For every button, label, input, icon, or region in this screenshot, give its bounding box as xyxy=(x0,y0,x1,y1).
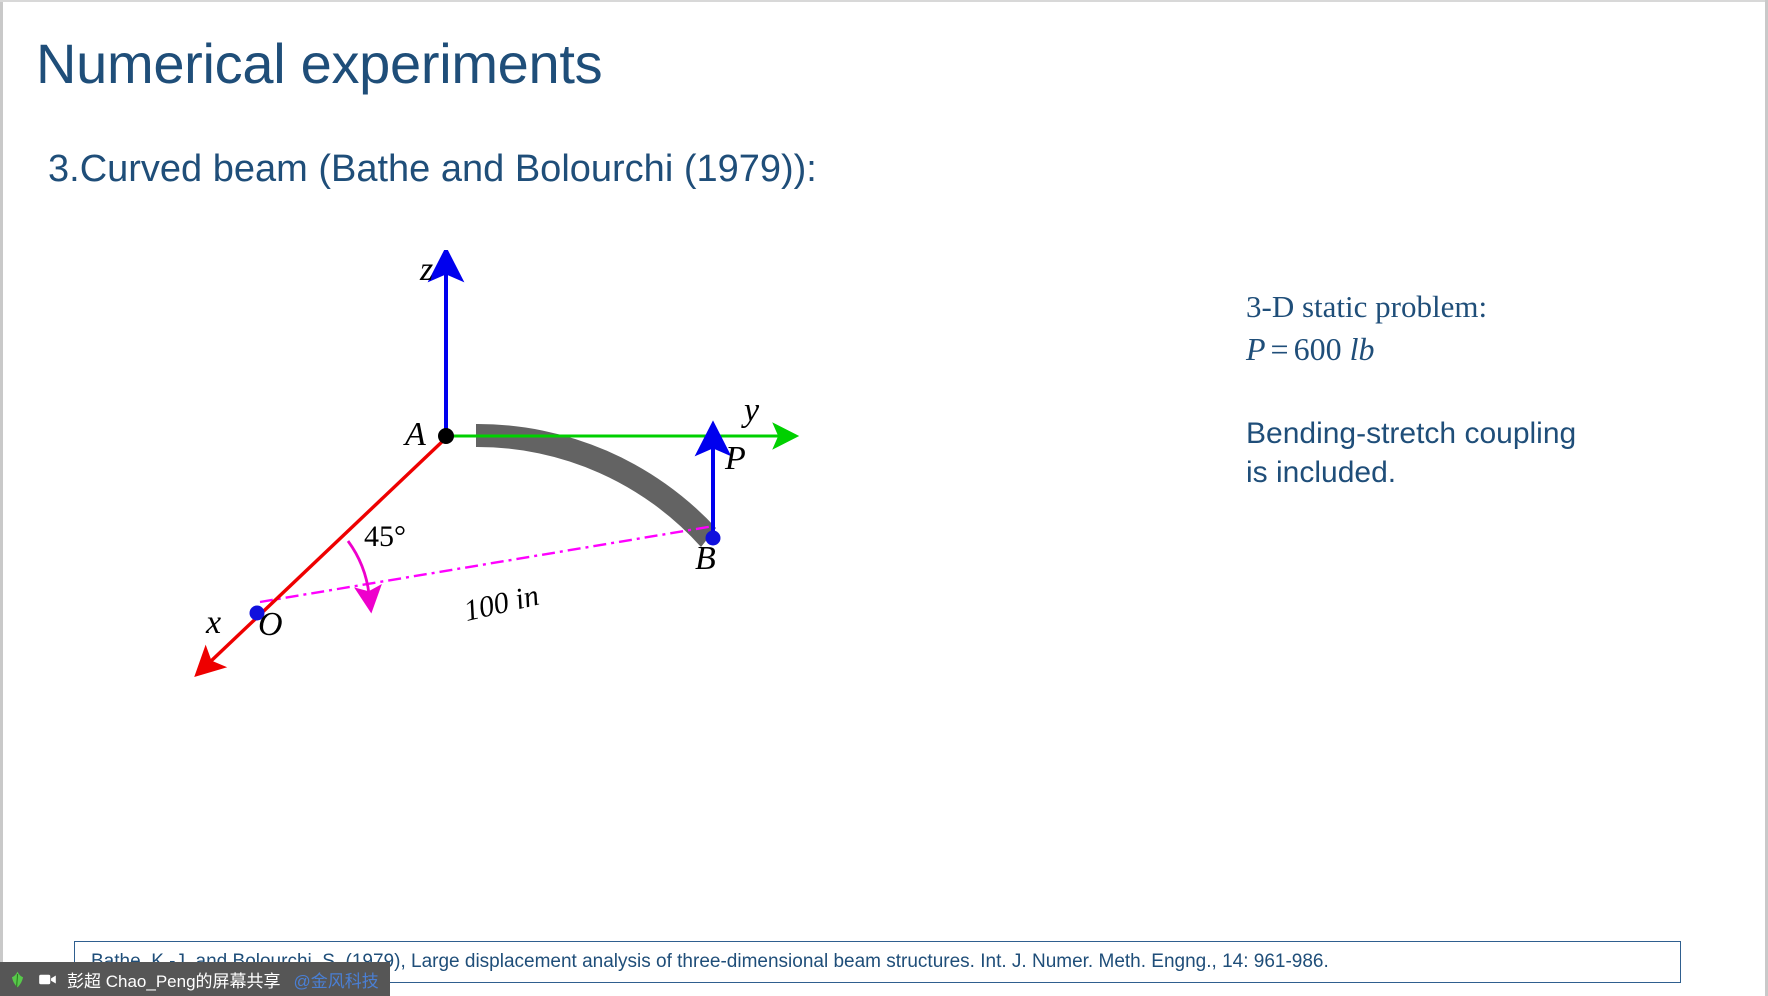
page-title: Numerical experiments xyxy=(36,34,602,94)
screen-share-icon[interactable] xyxy=(7,969,28,990)
axis-z-label: z xyxy=(420,253,433,287)
camera-icon[interactable] xyxy=(37,969,58,990)
slide-left-border xyxy=(0,0,3,996)
point-a-label: A xyxy=(405,418,426,452)
angle-label-45: 45° xyxy=(364,522,406,552)
annotation-coupling-line1: Bending-stretch coupling xyxy=(1246,416,1676,453)
axis-x-line xyxy=(210,438,446,662)
force-label-p: P xyxy=(725,442,746,476)
slide-top-border xyxy=(0,0,1768,2)
taskbar-watermark: @金风科技 xyxy=(294,967,379,992)
formula-equals: = xyxy=(1266,331,1294,367)
taskbar-share-label: 彭超 Chao_Peng的屏幕共享 xyxy=(67,967,281,992)
slide-subtitle: 3.Curved beam (Bathe and Bolourchi (1979… xyxy=(48,148,817,192)
axis-y-label: y xyxy=(744,394,759,428)
formula-unit: lb xyxy=(1350,331,1375,367)
node-a-marker xyxy=(438,428,454,444)
formula-symbol-p: P xyxy=(1246,331,1266,367)
point-b-label: B xyxy=(695,542,716,576)
annotation-static-problem: 3-D static problem: xyxy=(1246,288,1676,326)
axis-x-label: x xyxy=(206,606,221,640)
presentation-slide: Numerical experiments 3.Curved beam (Bat… xyxy=(0,0,1768,996)
curved-beam-diagram: z y x A B O P 45° 100 in xyxy=(180,250,940,780)
annotation-coupling-line2: is included. xyxy=(1246,455,1676,492)
origin-label: O xyxy=(258,608,283,642)
annotation-block: 3-D static problem: P=600 lb Bending-str… xyxy=(1246,288,1676,492)
screen-share-taskbar[interactable]: 彭超 Chao_Peng的屏幕共享 @金风科技 xyxy=(0,962,390,996)
curved-beam-body xyxy=(476,424,716,547)
annotation-load-formula: P=600 lb xyxy=(1246,329,1676,371)
diagram-svg xyxy=(180,250,940,780)
formula-value: 600 xyxy=(1294,331,1342,367)
